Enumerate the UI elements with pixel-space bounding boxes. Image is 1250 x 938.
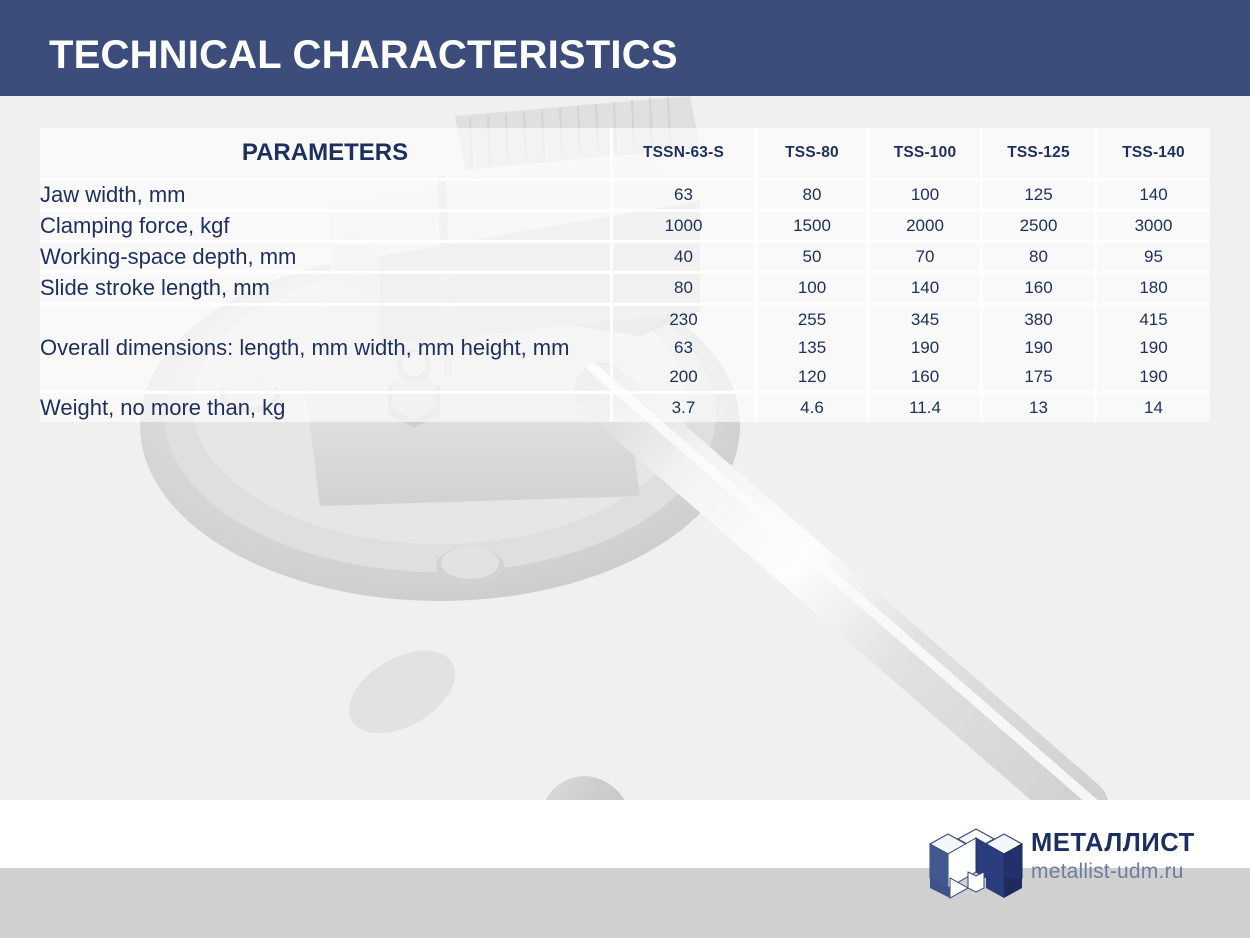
- logo-wordmark: МЕТАЛЛИСТ metallist-udm.ru: [1031, 829, 1201, 884]
- table-row: Overall dimensions: length, mm width, mm…: [40, 306, 1210, 395]
- dims-label-line-3: width, mm: [354, 335, 454, 360]
- row-label-clamping-force: Clamping force, kgf: [40, 212, 613, 243]
- dims-height-model-3: 160: [870, 363, 980, 392]
- cell-working-space-depth-model-5: 95: [1097, 243, 1210, 274]
- dims-height-model-4: 175: [983, 363, 1094, 392]
- cell-overall-dimensions-model-5: 415 190 190: [1097, 306, 1210, 395]
- dims-length-model-4: 380: [983, 306, 1094, 335]
- table-row: Weight, no more than, kg 3.7 4.6 11.4 13…: [40, 394, 1210, 422]
- header-bar: TECHNICAL CHARACTERISTICS: [0, 0, 1250, 96]
- cell-clamping-force-model-1: 1000: [613, 212, 757, 243]
- cell-clamping-force-model-5: 3000: [1097, 212, 1210, 243]
- company-logo[interactable]: МЕТАЛЛИСТ metallist-udm.ru: [928, 826, 1200, 900]
- cell-overall-dimensions-model-2: 255 135 120: [757, 306, 870, 395]
- cell-working-space-depth-model-1: 40: [613, 243, 757, 274]
- table-row: Slide stroke length, mm 80 100 140 160 1…: [40, 274, 1210, 305]
- column-header-model-3: TSS-100: [870, 128, 983, 181]
- column-header-model-4: TSS-125: [983, 128, 1097, 181]
- cell-weight-model-3: 11.4: [870, 394, 983, 422]
- dims-width-model-3: 190: [870, 334, 980, 363]
- dims-width-model-4: 190: [983, 334, 1094, 363]
- dims-length-model-3: 345: [870, 306, 980, 335]
- logo-website-url[interactable]: metallist-udm.ru: [1031, 859, 1201, 884]
- column-header-parameters: PARAMETERS: [40, 128, 613, 181]
- cell-slide-stroke-length-model-1: 80: [613, 274, 757, 305]
- dims-width-model-1: 63: [613, 334, 754, 363]
- cell-overall-dimensions-model-1: 230 63 200: [613, 306, 757, 395]
- cell-overall-dimensions-model-3: 345 190 160: [870, 306, 983, 395]
- row-label-slide-stroke-length: Slide stroke length, mm: [40, 274, 613, 305]
- cell-slide-stroke-length-model-2: 100: [757, 274, 870, 305]
- column-header-model-1: TSSN-63-S: [613, 128, 757, 181]
- dims-length-model-1: 230: [613, 306, 754, 335]
- row-label-weight: Weight, no more than, kg: [40, 394, 613, 422]
- column-header-model-5: TSS-140: [1097, 128, 1210, 181]
- slide-canvas: TECHNICAL CHARACTERISTICS PARAMETERS TSS…: [0, 0, 1250, 938]
- row-label-jaw-width: Jaw width, mm: [40, 181, 613, 212]
- cell-weight-model-5: 14: [1097, 394, 1210, 422]
- cell-slide-stroke-length-model-4: 160: [983, 274, 1097, 305]
- cell-weight-model-4: 13: [983, 394, 1097, 422]
- cell-working-space-depth-model-3: 70: [870, 243, 983, 274]
- cell-jaw-width-model-5: 140: [1097, 181, 1210, 212]
- dims-height-model-2: 120: [757, 363, 867, 392]
- cell-weight-model-1: 3.7: [613, 394, 757, 422]
- cell-working-space-depth-model-4: 80: [983, 243, 1097, 274]
- cell-slide-stroke-length-model-5: 180: [1097, 274, 1210, 305]
- row-label-working-space-depth: Working-space depth, mm: [40, 243, 613, 274]
- dims-length-model-2: 255: [757, 306, 867, 335]
- row-label-overall-dimensions: Overall dimensions: length, mm width, mm…: [40, 306, 613, 395]
- cell-jaw-width-model-3: 100: [870, 181, 983, 212]
- dims-height-model-1: 200: [613, 363, 754, 392]
- table-row: Working-space depth, mm 40 50 70 80 95: [40, 243, 1210, 274]
- cell-weight-model-2: 4.6: [757, 394, 870, 422]
- cell-clamping-force-model-4: 2500: [983, 212, 1097, 243]
- cell-clamping-force-model-2: 1500: [757, 212, 870, 243]
- cell-jaw-width-model-2: 80: [757, 181, 870, 212]
- dims-width-model-2: 135: [757, 334, 867, 363]
- dims-label-line-2: length, mm: [239, 335, 348, 360]
- dims-height-model-5: 190: [1097, 363, 1210, 392]
- dims-width-model-5: 190: [1097, 334, 1210, 363]
- logo-brand-name: МЕТАЛЛИСТ: [1031, 829, 1201, 857]
- isometric-m-logo-icon: [928, 826, 1024, 900]
- cell-jaw-width-model-1: 63: [613, 181, 757, 212]
- cell-working-space-depth-model-2: 50: [757, 243, 870, 274]
- dims-length-model-5: 415: [1097, 306, 1210, 335]
- column-header-model-2: TSS-80: [757, 128, 870, 181]
- cell-jaw-width-model-4: 125: [983, 181, 1097, 212]
- dims-label-line-4: height, mm: [461, 335, 570, 360]
- cell-overall-dimensions-model-4: 380 190 175: [983, 306, 1097, 395]
- cell-clamping-force-model-3: 2000: [870, 212, 983, 243]
- table-header-row: PARAMETERS TSSN-63-S TSS-80 TSS-100 TSS-…: [40, 128, 1210, 181]
- dims-label-line-1: Overall dimensions:: [40, 335, 233, 360]
- table-row: Jaw width, mm 63 80 100 125 140: [40, 181, 1210, 212]
- table-row: Clamping force, kgf 1000 1500 2000 2500 …: [40, 212, 1210, 243]
- cell-slide-stroke-length-model-3: 140: [870, 274, 983, 305]
- technical-characteristics-table: PARAMETERS TSSN-63-S TSS-80 TSS-100 TSS-…: [40, 128, 1210, 422]
- page-title: TECHNICAL CHARACTERISTICS: [49, 33, 678, 78]
